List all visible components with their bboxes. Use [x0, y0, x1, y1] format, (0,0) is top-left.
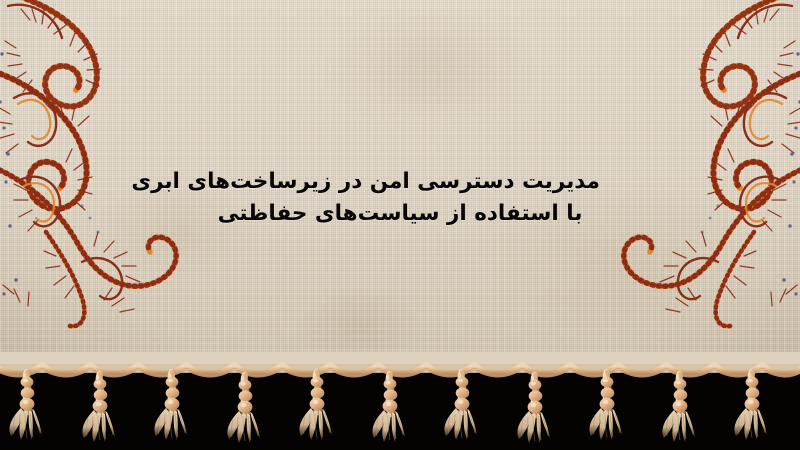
title-line-2: با استفاده از سیاست‌های حفاظتی [200, 198, 600, 230]
slide-title: مدیریت دسترسی امن در زیرساخت‌های ابری با… [0, 166, 800, 230]
tassel-fringe [0, 366, 800, 450]
slide-canvas: مدیریت دسترسی امن در زیرساخت‌های ابری با… [0, 0, 800, 450]
title-line-1: مدیریت دسترسی امن در زیرساخت‌های ابری [200, 166, 600, 198]
